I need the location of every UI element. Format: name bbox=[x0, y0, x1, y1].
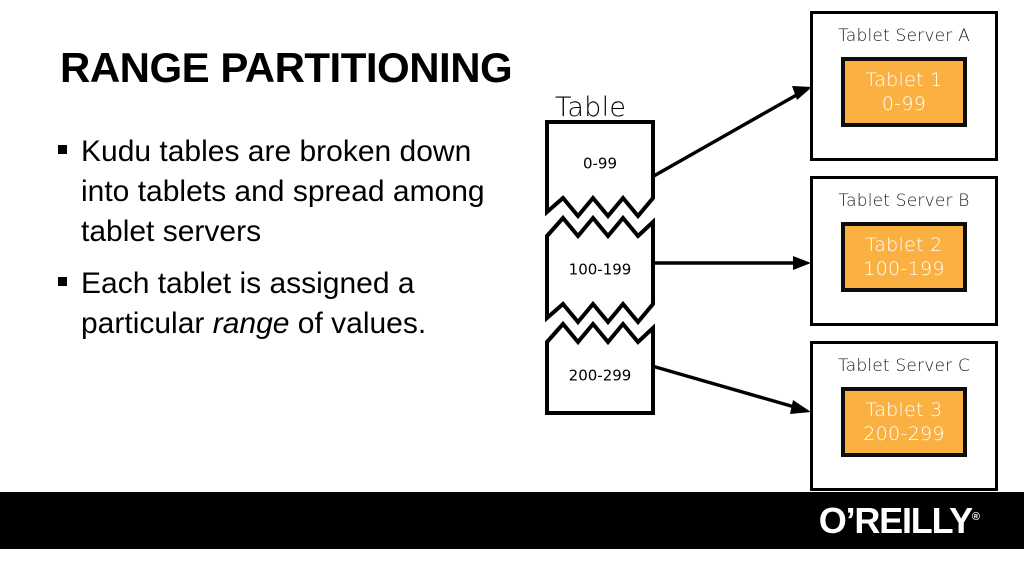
trademark-icon: ® bbox=[972, 511, 980, 523]
tablet-server-box: Tablet Server A Tablet 1 0-99 bbox=[810, 11, 998, 161]
tablet-chip: Tablet 3 200-299 bbox=[841, 387, 967, 457]
arrow-head-icon bbox=[793, 256, 811, 270]
tablet-server-box: Tablet Server C Tablet 3 200-299 bbox=[810, 341, 998, 491]
arrow-head-icon bbox=[792, 86, 812, 100]
arrow-to-server-b bbox=[652, 256, 811, 270]
tablet-server-box: Tablet Server B Tablet 2 100-199 bbox=[810, 176, 998, 326]
tablet-server-title: Tablet Server A bbox=[813, 26, 995, 46]
footer-bar: O’REILLY® bbox=[0, 492, 1024, 549]
bullet-text-part: Kudu tables are broken down into tablets… bbox=[81, 135, 485, 248]
table-segment-label: 0-99 bbox=[583, 155, 617, 173]
bullet-text-part: of values. bbox=[289, 307, 426, 340]
bullet-text: Each tablet is assigned a particular ran… bbox=[81, 264, 508, 344]
arrow-shaft bbox=[652, 366, 798, 408]
bullet-text: Kudu tables are broken down into tablets… bbox=[81, 132, 508, 252]
tablet-chip-range: 200-299 bbox=[863, 422, 945, 446]
square-bullet-icon bbox=[58, 277, 67, 286]
slide-canvas: RANGE PARTITIONING Kudu tables are broke… bbox=[0, 0, 1024, 576]
tablet-server-title: Tablet Server C bbox=[813, 356, 995, 376]
square-bullet-icon bbox=[58, 145, 67, 154]
oreilly-logo: O’REILLY® bbox=[819, 500, 980, 542]
list-item: Kudu tables are broken down into tablets… bbox=[58, 132, 508, 252]
table-segment-2: 200-299 bbox=[547, 324, 653, 413]
oreilly-logo-text: O’REILLY bbox=[819, 500, 972, 541]
table-diagram: 0-99 100-199 200-299 bbox=[536, 112, 666, 422]
tablet-chip-name: Tablet 2 bbox=[865, 233, 942, 257]
tablet-server-title: Tablet Server B bbox=[813, 191, 995, 211]
arrow-to-server-c bbox=[652, 366, 811, 414]
bullet-list: Kudu tables are broken down into tablets… bbox=[58, 132, 508, 356]
arrow-to-server-a bbox=[652, 86, 812, 177]
table-segment-1: 100-199 bbox=[547, 218, 653, 322]
bullet-emphasis: range bbox=[213, 307, 290, 340]
page-title: RANGE PARTITIONING bbox=[60, 44, 512, 92]
table-segment-label: 200-299 bbox=[569, 367, 632, 385]
list-item: Each tablet is assigned a particular ran… bbox=[58, 264, 508, 344]
table-segment-0: 0-99 bbox=[547, 122, 653, 216]
tablet-chip: Tablet 1 0-99 bbox=[841, 57, 967, 127]
arrow-head-icon bbox=[790, 400, 811, 414]
arrow-shaft bbox=[652, 93, 800, 177]
table-segment-label: 100-199 bbox=[569, 261, 632, 279]
tablet-chip-range: 100-199 bbox=[863, 257, 945, 281]
tablet-chip-name: Tablet 3 bbox=[865, 398, 942, 422]
tablet-chip-range: 0-99 bbox=[882, 92, 926, 116]
tablet-chip-name: Tablet 1 bbox=[865, 68, 942, 92]
tablet-chip: Tablet 2 100-199 bbox=[841, 222, 967, 292]
